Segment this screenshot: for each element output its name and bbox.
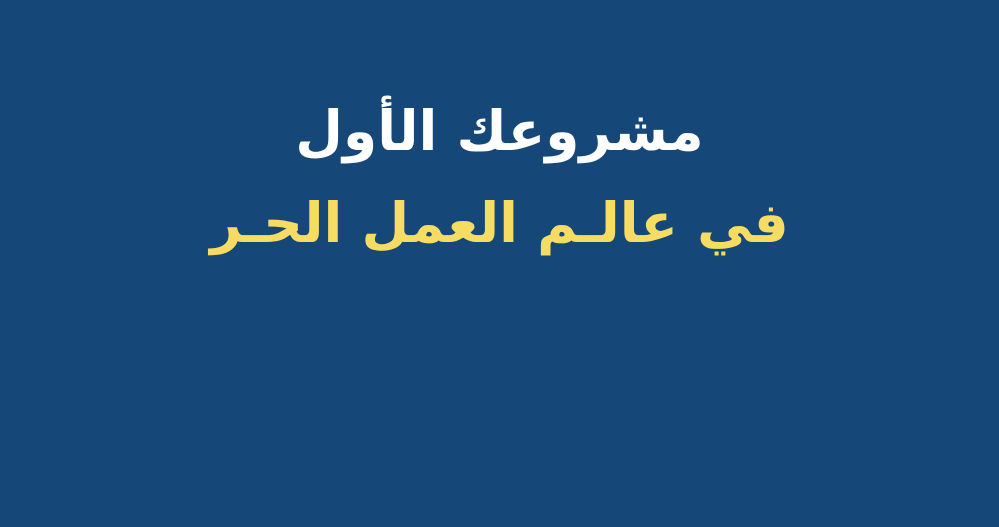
headline-block: مشروعك الأول في عالـم العمل الحـر bbox=[0, 96, 999, 259]
title-slide: مشروعك الأول في عالـم العمل الحـر bbox=[0, 0, 999, 527]
headline-line-primary: مشروعك الأول bbox=[0, 96, 999, 168]
headline-line-accent: في عالـم العمل الحـر bbox=[0, 188, 999, 260]
